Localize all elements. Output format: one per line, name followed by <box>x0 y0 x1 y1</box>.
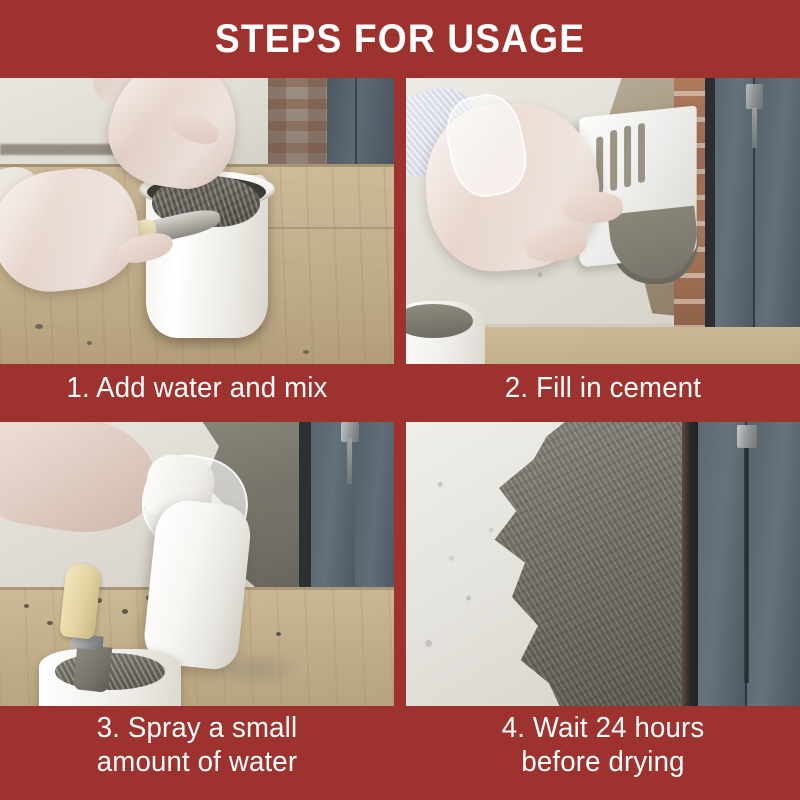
steps-for-usage-poster: STEPS FOR USAGE <box>0 0 800 800</box>
step-4-caption-line-2: before drying <box>416 746 790 780</box>
page-title: STEPS FOR USAGE <box>215 19 585 59</box>
step-1-caption-line-1: 1. Add water and mix <box>10 372 384 406</box>
door-hinge-pin <box>744 445 749 684</box>
door-hinge-pin <box>752 108 758 148</box>
step-1-photo <box>0 78 394 364</box>
door-panel <box>747 422 800 706</box>
door-hinge-pin <box>347 439 352 484</box>
brick-wall <box>268 78 331 175</box>
wall-shadow <box>0 144 118 155</box>
step-3-photo <box>0 422 394 706</box>
step-1-image <box>0 78 394 364</box>
spatula-slot <box>610 131 617 192</box>
debris-speck <box>303 350 309 354</box>
step-4-image <box>406 422 800 706</box>
step-4-photo <box>406 422 800 706</box>
step-4-caption-line-1: 4. Wait 24 hours <box>416 712 790 746</box>
poster-title-bar: STEPS FOR USAGE <box>0 0 800 78</box>
spray-bottle <box>141 497 252 671</box>
step-3-image <box>0 422 394 706</box>
step-3-caption: 3. Spray a small amount of water <box>10 712 384 779</box>
debris-speck <box>47 621 53 625</box>
trowel-blade <box>73 645 113 694</box>
step-2-caption-line-1: 2. Fill in cement <box>416 372 790 406</box>
debris-speck <box>87 341 92 345</box>
door-frame <box>698 422 745 706</box>
step-4-caption: 4. Wait 24 hours before drying <box>416 712 790 779</box>
step-1-caption: 1. Add water and mix <box>10 372 384 406</box>
step-3-caption-line-2: amount of water <box>10 746 384 780</box>
step-2-image <box>406 78 800 364</box>
debris-speck <box>24 604 29 608</box>
door-hinge <box>746 84 763 110</box>
debris-speck <box>276 632 281 636</box>
cardboard-floor <box>461 327 800 364</box>
door-hinge <box>737 425 757 448</box>
step-3-caption-line-1: 3. Spray a small <box>10 712 384 746</box>
spatula-slot <box>638 123 645 184</box>
door-frame <box>715 78 754 335</box>
door-panel <box>753 78 800 344</box>
step-2-caption: 2. Fill in cement <box>416 372 790 406</box>
spatula-slot <box>624 126 631 188</box>
step-2-photo <box>406 78 800 364</box>
